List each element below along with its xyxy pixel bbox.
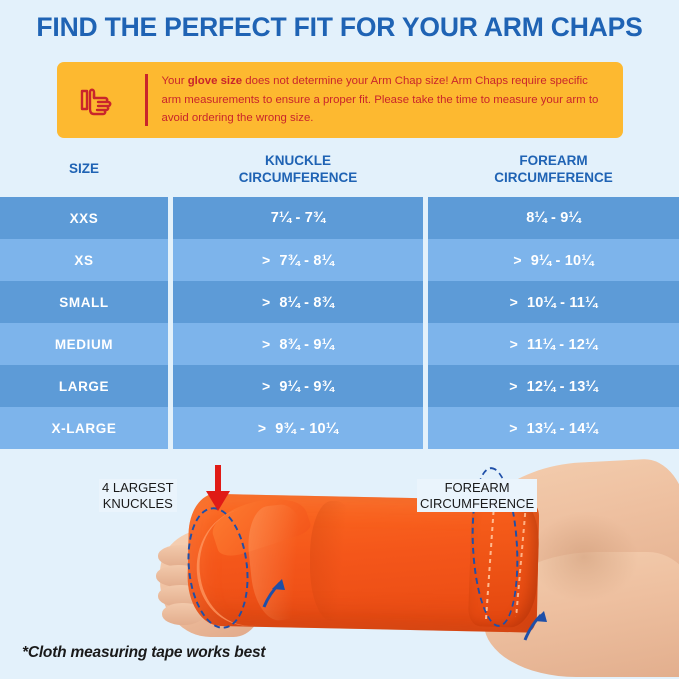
knuckle-value: >9¾ - 10¼ (258, 420, 338, 437)
knuckle-value: 7¼ - 7¾ (271, 210, 326, 226)
cell-size: XXS (0, 197, 168, 239)
label-forearm-circumference: FOREARM CIRCUMFERENCE (417, 479, 537, 512)
forearm-greater-than: > (509, 420, 517, 436)
elbow-shading (529, 512, 639, 602)
knuckle-greater-than: > (258, 420, 266, 436)
cell-forearm: 8¼ - 9¼ (428, 197, 679, 239)
callout-text-before: Your (162, 75, 188, 87)
page-title: FIND THE PERFECT FIT FOR YOUR ARM CHAPS (0, 12, 679, 43)
forearm-value: >11¼ - 12¼ (510, 336, 598, 353)
cell-size: MEDIUM (0, 323, 168, 365)
cell-forearm: >9¼ - 10¼ (428, 239, 679, 281)
knuckle-greater-than: > (262, 294, 270, 310)
cell-size: LARGE (0, 365, 168, 407)
forearm-value: >12¼ - 13¼ (509, 378, 598, 395)
knuckle-value: >9¼ - 9¾ (262, 378, 334, 395)
pointing-hand-icon (57, 80, 145, 120)
forearm-value: >10¼ - 11¼ (510, 294, 598, 311)
label-4-largest-knuckles: 4 LARGEST KNUCKLES (99, 479, 177, 512)
forearm-range: 8¼ - 9¼ (526, 210, 581, 226)
sleeve-fold-shadow (310, 501, 358, 621)
knuckle-range: 8¾ - 9¼ (279, 337, 334, 353)
forearm-range: 10¼ - 11¼ (527, 295, 597, 311)
knuckle-range: 7¾ - 8¼ (279, 253, 334, 269)
table-header-row: SIZE KNUCKLE CIRCUMFERENCE FOREARM CIRCU… (0, 142, 679, 197)
table-row: LARGE>9¼ - 9¾>12¼ - 13¼ (0, 365, 679, 407)
forearm-value: >13¼ - 14¼ (509, 420, 598, 437)
cell-size: XS (0, 239, 168, 281)
table-row: XXS7¼ - 7¾8¼ - 9¼ (0, 197, 679, 239)
column-header-forearm-line2: CIRCUMFERENCE (494, 170, 613, 185)
callout-text-bold: glove size (188, 75, 242, 87)
knuckle-value: >8¼ - 8¾ (262, 294, 334, 311)
cell-knuckle: >7¾ - 8¼ (173, 239, 423, 281)
label-forearm-line1: FOREARM (445, 480, 510, 495)
cell-knuckle: >8¾ - 9¼ (173, 323, 423, 365)
callout-divider (145, 74, 148, 126)
forearm-greater-than: > (509, 378, 517, 394)
column-header-knuckle-line1: KNUCKLE (265, 153, 331, 168)
forearm-greater-than: > (510, 294, 518, 310)
table-row: SMALL>8¼ - 8¾>10¼ - 11¼ (0, 281, 679, 323)
callout-notice: Your glove size does not determine your … (57, 62, 623, 138)
forearm-range: 12¼ - 13¼ (527, 379, 598, 395)
cell-knuckle: 7¼ - 7¾ (173, 197, 423, 239)
knuckle-greater-than: > (262, 336, 270, 352)
label-knuckles-line1: 4 LARGEST (102, 480, 174, 495)
forearm-greater-than: > (513, 252, 521, 268)
cell-size: SMALL (0, 281, 168, 323)
forearm-range: 11¼ - 12¼ (527, 337, 597, 353)
table-row: MEDIUM>8¾ - 9¼>11¼ - 12¼ (0, 323, 679, 365)
cell-forearm: >10¼ - 11¼ (428, 281, 679, 323)
knuckle-greater-than: > (262, 378, 270, 394)
cell-size: X-LARGE (0, 407, 168, 449)
knuckle-value: >7¾ - 8¼ (262, 252, 334, 269)
cell-knuckle: >9¼ - 9¾ (173, 365, 423, 407)
callout-text: Your glove size does not determine your … (162, 72, 624, 127)
table-body: XXS7¼ - 7¾8¼ - 9¼XS>7¾ - 8¼>9¼ - 10¼SMAL… (0, 197, 679, 449)
knuckle-value: >8¾ - 9¼ (262, 336, 334, 353)
forearm-greater-than: > (510, 336, 518, 352)
column-header-forearm: FOREARM CIRCUMFERENCE (428, 142, 679, 197)
knuckle-greater-than: > (262, 252, 270, 268)
knuckle-range: 9¾ - 10¼ (275, 421, 338, 437)
column-header-forearm-line1: FOREARM (519, 153, 587, 168)
knuckle-range: 8¼ - 8¾ (279, 295, 334, 311)
column-header-knuckle: KNUCKLE CIRCUMFERENCE (173, 142, 423, 197)
column-header-knuckle-line2: CIRCUMFERENCE (239, 170, 358, 185)
cell-forearm: >11¼ - 12¼ (428, 323, 679, 365)
forearm-range: 13¼ - 14¼ (527, 421, 598, 437)
cell-knuckle: >8¼ - 8¾ (173, 281, 423, 323)
label-knuckles-line2: KNUCKLES (103, 496, 173, 511)
red-down-arrow-icon (200, 463, 236, 515)
table-row: XS>7¾ - 8¼>9¼ - 10¼ (0, 239, 679, 281)
forearm-value: >9¼ - 10¼ (513, 252, 593, 269)
cell-forearm: >12¼ - 13¼ (428, 365, 679, 407)
forearm-range: 9¼ - 10¼ (531, 253, 594, 269)
forearm-value: 8¼ - 9¼ (526, 210, 581, 226)
label-forearm-line2: CIRCUMFERENCE (420, 496, 534, 511)
blue-curved-arrow-forearm-icon (520, 609, 550, 643)
blue-curved-arrow-knuckle-icon (258, 577, 288, 611)
table-row: X-LARGE>9¾ - 10¼>13¼ - 14¼ (0, 407, 679, 449)
footnote-text: *Cloth measuring tape works best (22, 644, 265, 662)
column-header-size: SIZE (0, 142, 168, 197)
size-chart-table: SIZE KNUCKLE CIRCUMFERENCE FOREARM CIRCU… (0, 142, 679, 449)
cell-forearm: >13¼ - 14¼ (428, 407, 679, 449)
cell-knuckle: >9¾ - 10¼ (173, 407, 423, 449)
knuckle-range: 7¼ - 7¾ (271, 210, 326, 226)
knuckle-range: 9¼ - 9¾ (279, 379, 334, 395)
